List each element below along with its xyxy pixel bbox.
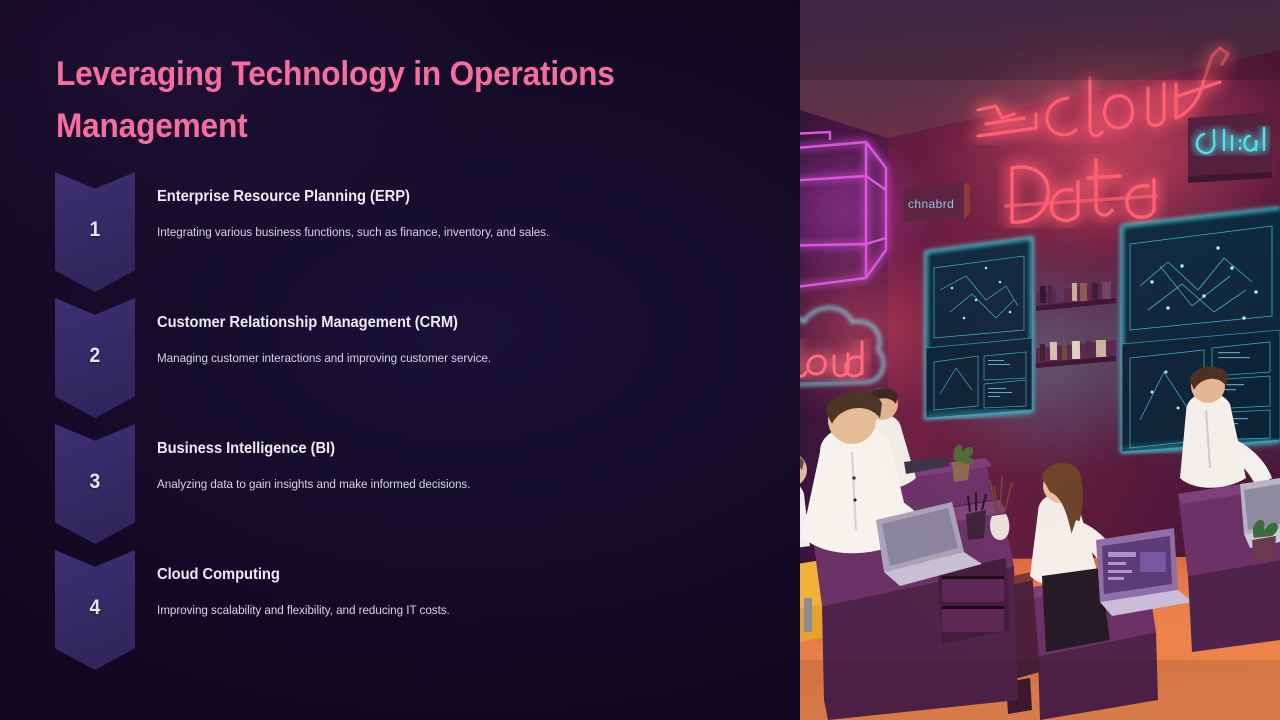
item-title: Business Intelligence (BI) bbox=[157, 440, 727, 458]
item-number-label: 3 bbox=[90, 470, 101, 494]
item-text-block: Cloud Computing Improving scalability an… bbox=[157, 566, 757, 619]
numbered-items-list: 1 Enterprise Resource Planning (ERP) Int… bbox=[0, 172, 800, 676]
item-description: Improving scalability and flexibility, a… bbox=[157, 602, 727, 619]
item-number-badge: 1 bbox=[55, 172, 135, 292]
item-number-label: 1 bbox=[90, 218, 101, 242]
list-item[interactable]: 3 Business Intelligence (BI) Analyzing d… bbox=[0, 424, 800, 550]
item-number-badge: 4 bbox=[55, 550, 135, 670]
office-photo: chnabrd bbox=[800, 0, 1280, 720]
presentation-slide: Leveraging Technology in Operations Mana… bbox=[0, 0, 1280, 720]
item-number-badge: 3 bbox=[55, 424, 135, 544]
item-description: Analyzing data to gain insights and make… bbox=[157, 476, 727, 493]
item-number-label: 2 bbox=[90, 344, 101, 368]
page-title: Leveraging Technology in Operations Mana… bbox=[56, 48, 651, 152]
neon-office-illustration: chnabrd bbox=[800, 0, 1280, 720]
content-panel: Leveraging Technology in Operations Mana… bbox=[0, 0, 800, 720]
list-item[interactable]: 4 Cloud Computing Improving scalability … bbox=[0, 550, 800, 676]
item-description: Integrating various business functions, … bbox=[157, 224, 727, 241]
item-text-block: Enterprise Resource Planning (ERP) Integ… bbox=[157, 188, 757, 241]
item-title: Customer Relationship Management (CRM) bbox=[157, 314, 727, 332]
list-item[interactable]: 2 Customer Relationship Management (CRM)… bbox=[0, 298, 800, 424]
item-text-block: Business Intelligence (BI) Analyzing dat… bbox=[157, 440, 757, 493]
item-text-block: Customer Relationship Management (CRM) M… bbox=[157, 314, 757, 367]
item-description: Managing customer interactions and impro… bbox=[157, 350, 727, 367]
list-item[interactable]: 1 Enterprise Resource Planning (ERP) Int… bbox=[0, 172, 800, 298]
item-number-label: 4 bbox=[90, 596, 101, 620]
item-number-badge: 2 bbox=[55, 298, 135, 418]
item-title: Cloud Computing bbox=[157, 566, 727, 584]
item-title: Enterprise Resource Planning (ERP) bbox=[157, 188, 727, 206]
